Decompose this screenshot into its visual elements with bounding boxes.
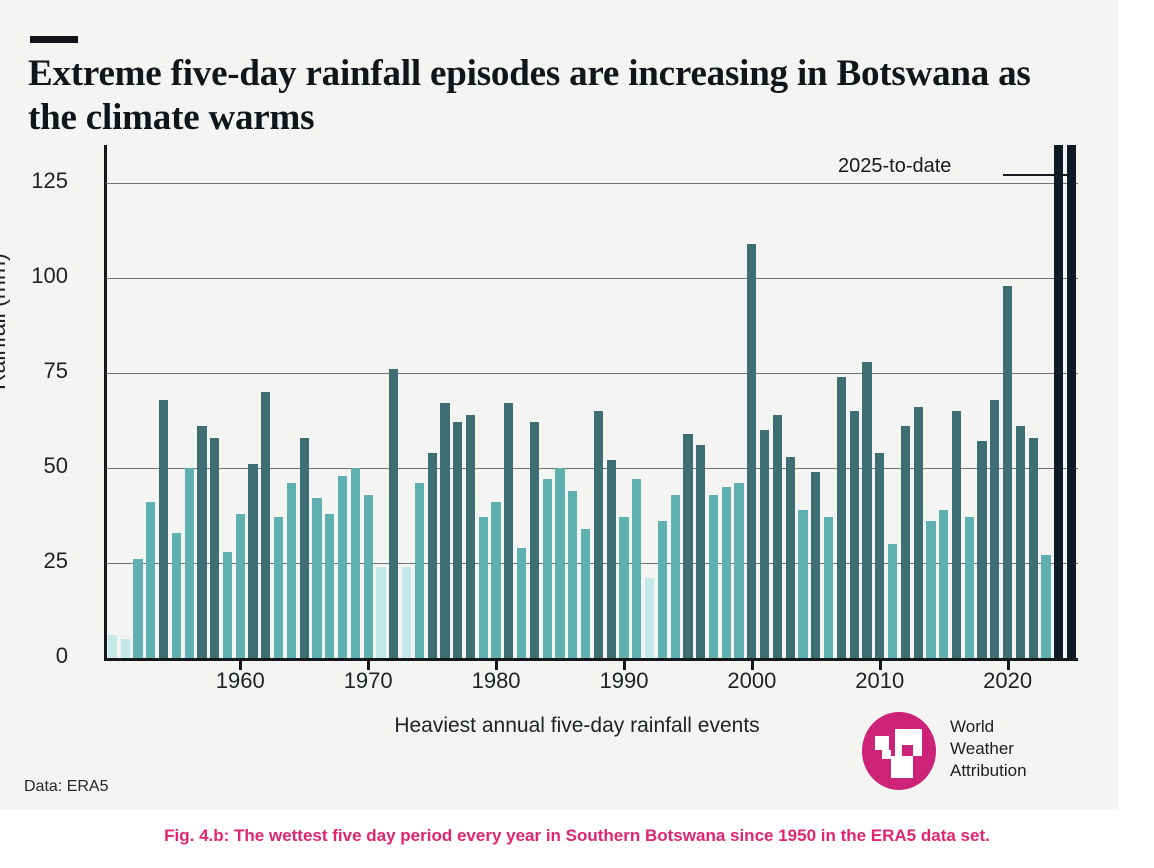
y-axis-label: Rainfall (mm) xyxy=(0,253,11,390)
bar-1996 xyxy=(696,445,705,658)
y-tick-label-50: 50 xyxy=(0,453,68,479)
bar-1994 xyxy=(671,495,680,658)
bar-2024 xyxy=(1054,145,1063,658)
bar-1960 xyxy=(236,514,245,658)
bar-1992 xyxy=(645,578,654,658)
bar-1985 xyxy=(555,468,564,658)
bar-1956 xyxy=(185,468,194,658)
y-tick-label-125: 125 xyxy=(0,168,68,194)
bar-1965 xyxy=(300,438,309,658)
bar-2025 xyxy=(1067,145,1076,658)
logo-text: World Weather Attribution xyxy=(950,716,1027,782)
bar-2006 xyxy=(824,517,833,658)
page-title: Extreme five-day rainfall episodes are i… xyxy=(28,52,1038,140)
bar-1950 xyxy=(108,635,117,658)
bar-2014 xyxy=(926,521,935,658)
bar-2015 xyxy=(939,510,948,658)
bar-1972 xyxy=(389,369,398,658)
bar-2005 xyxy=(811,472,820,658)
bar-2023 xyxy=(1041,555,1050,658)
bar-2001 xyxy=(760,430,769,658)
bar-1954 xyxy=(159,400,168,658)
bar-1977 xyxy=(453,422,462,658)
bar-2003 xyxy=(786,457,795,658)
bar-1981 xyxy=(504,403,513,658)
bar-1984 xyxy=(543,479,552,658)
x-axis-line xyxy=(104,658,1078,661)
bar-1980 xyxy=(491,502,500,658)
bar-series xyxy=(106,145,1078,658)
bar-1971 xyxy=(376,567,385,658)
figure-caption: Fig. 4.b: The wettest five day period ev… xyxy=(0,826,1154,846)
x-tick-label-2010: 2010 xyxy=(835,668,925,694)
y-tick-label-25: 25 xyxy=(0,548,68,574)
bar-2012 xyxy=(901,426,910,658)
logo-line-2: Weather xyxy=(950,738,1027,760)
bar-2017 xyxy=(965,517,974,658)
bar-1999 xyxy=(734,483,743,658)
data-source-label: Data: ERA5 xyxy=(24,778,108,796)
logo-line-3: Attribution xyxy=(950,760,1027,782)
bar-2000 xyxy=(747,244,756,658)
bar-1998 xyxy=(722,487,731,658)
wwa-logo: World Weather Attribution xyxy=(862,712,1092,790)
bar-1955 xyxy=(172,533,181,658)
logo-mark-icon xyxy=(862,712,936,790)
bar-2013 xyxy=(914,407,923,658)
title-rule xyxy=(30,36,78,43)
bar-1957 xyxy=(197,426,206,658)
bar-1993 xyxy=(658,521,667,658)
y-tick-label-0: 0 xyxy=(0,643,68,669)
bar-1975 xyxy=(428,453,437,658)
bar-1987 xyxy=(581,529,590,658)
bar-1991 xyxy=(632,479,641,658)
bar-1964 xyxy=(287,483,296,658)
bar-1958 xyxy=(210,438,219,658)
bar-1986 xyxy=(568,491,577,658)
bar-1973 xyxy=(402,567,411,658)
bar-2010 xyxy=(875,453,884,658)
bar-1979 xyxy=(479,517,488,658)
bar-1990 xyxy=(619,517,628,658)
bar-2009 xyxy=(862,362,871,658)
bar-2011 xyxy=(888,544,897,658)
bar-1970 xyxy=(364,495,373,658)
bar-2021 xyxy=(1016,426,1025,658)
bar-2007 xyxy=(837,377,846,658)
bar-1968 xyxy=(338,476,347,658)
annotation-label: 2025-to-date xyxy=(838,155,951,178)
right-gutter xyxy=(1118,0,1154,810)
bar-1995 xyxy=(683,434,692,658)
logo-line-1: World xyxy=(950,716,1027,738)
annotation-leader-line xyxy=(1003,174,1067,176)
x-tick-label-1990: 1990 xyxy=(579,668,669,694)
bar-2008 xyxy=(850,411,859,658)
bar-1959 xyxy=(223,552,232,658)
bar-2018 xyxy=(977,441,986,658)
bar-2019 xyxy=(990,400,999,658)
bar-2022 xyxy=(1029,438,1038,658)
bar-1967 xyxy=(325,514,334,658)
bar-1962 xyxy=(261,392,270,658)
bar-1974 xyxy=(415,483,424,658)
x-tick-label-1980: 1980 xyxy=(451,668,541,694)
x-tick-label-2000: 2000 xyxy=(707,668,797,694)
bar-1953 xyxy=(146,502,155,658)
bar-1982 xyxy=(517,548,526,658)
bar-1966 xyxy=(312,498,321,658)
bar-1952 xyxy=(133,559,142,658)
bar-1963 xyxy=(274,517,283,658)
bar-2002 xyxy=(773,415,782,658)
bar-1969 xyxy=(351,468,360,658)
chart-figure: Extreme five-day rainfall episodes are i… xyxy=(0,0,1154,810)
bar-2020 xyxy=(1003,286,1012,658)
bar-2016 xyxy=(952,411,961,658)
bar-1961 xyxy=(248,464,257,658)
x-tick-label-1960: 1960 xyxy=(195,668,285,694)
bar-1976 xyxy=(440,403,449,658)
x-tick-label-1970: 1970 xyxy=(323,668,413,694)
bar-1989 xyxy=(607,460,616,658)
bar-1997 xyxy=(709,495,718,658)
bar-1988 xyxy=(594,411,603,658)
bar-1983 xyxy=(530,422,539,658)
bar-1978 xyxy=(466,415,475,658)
x-tick-label-2020: 2020 xyxy=(963,668,1053,694)
bar-2004 xyxy=(798,510,807,658)
bar-1951 xyxy=(121,639,130,658)
